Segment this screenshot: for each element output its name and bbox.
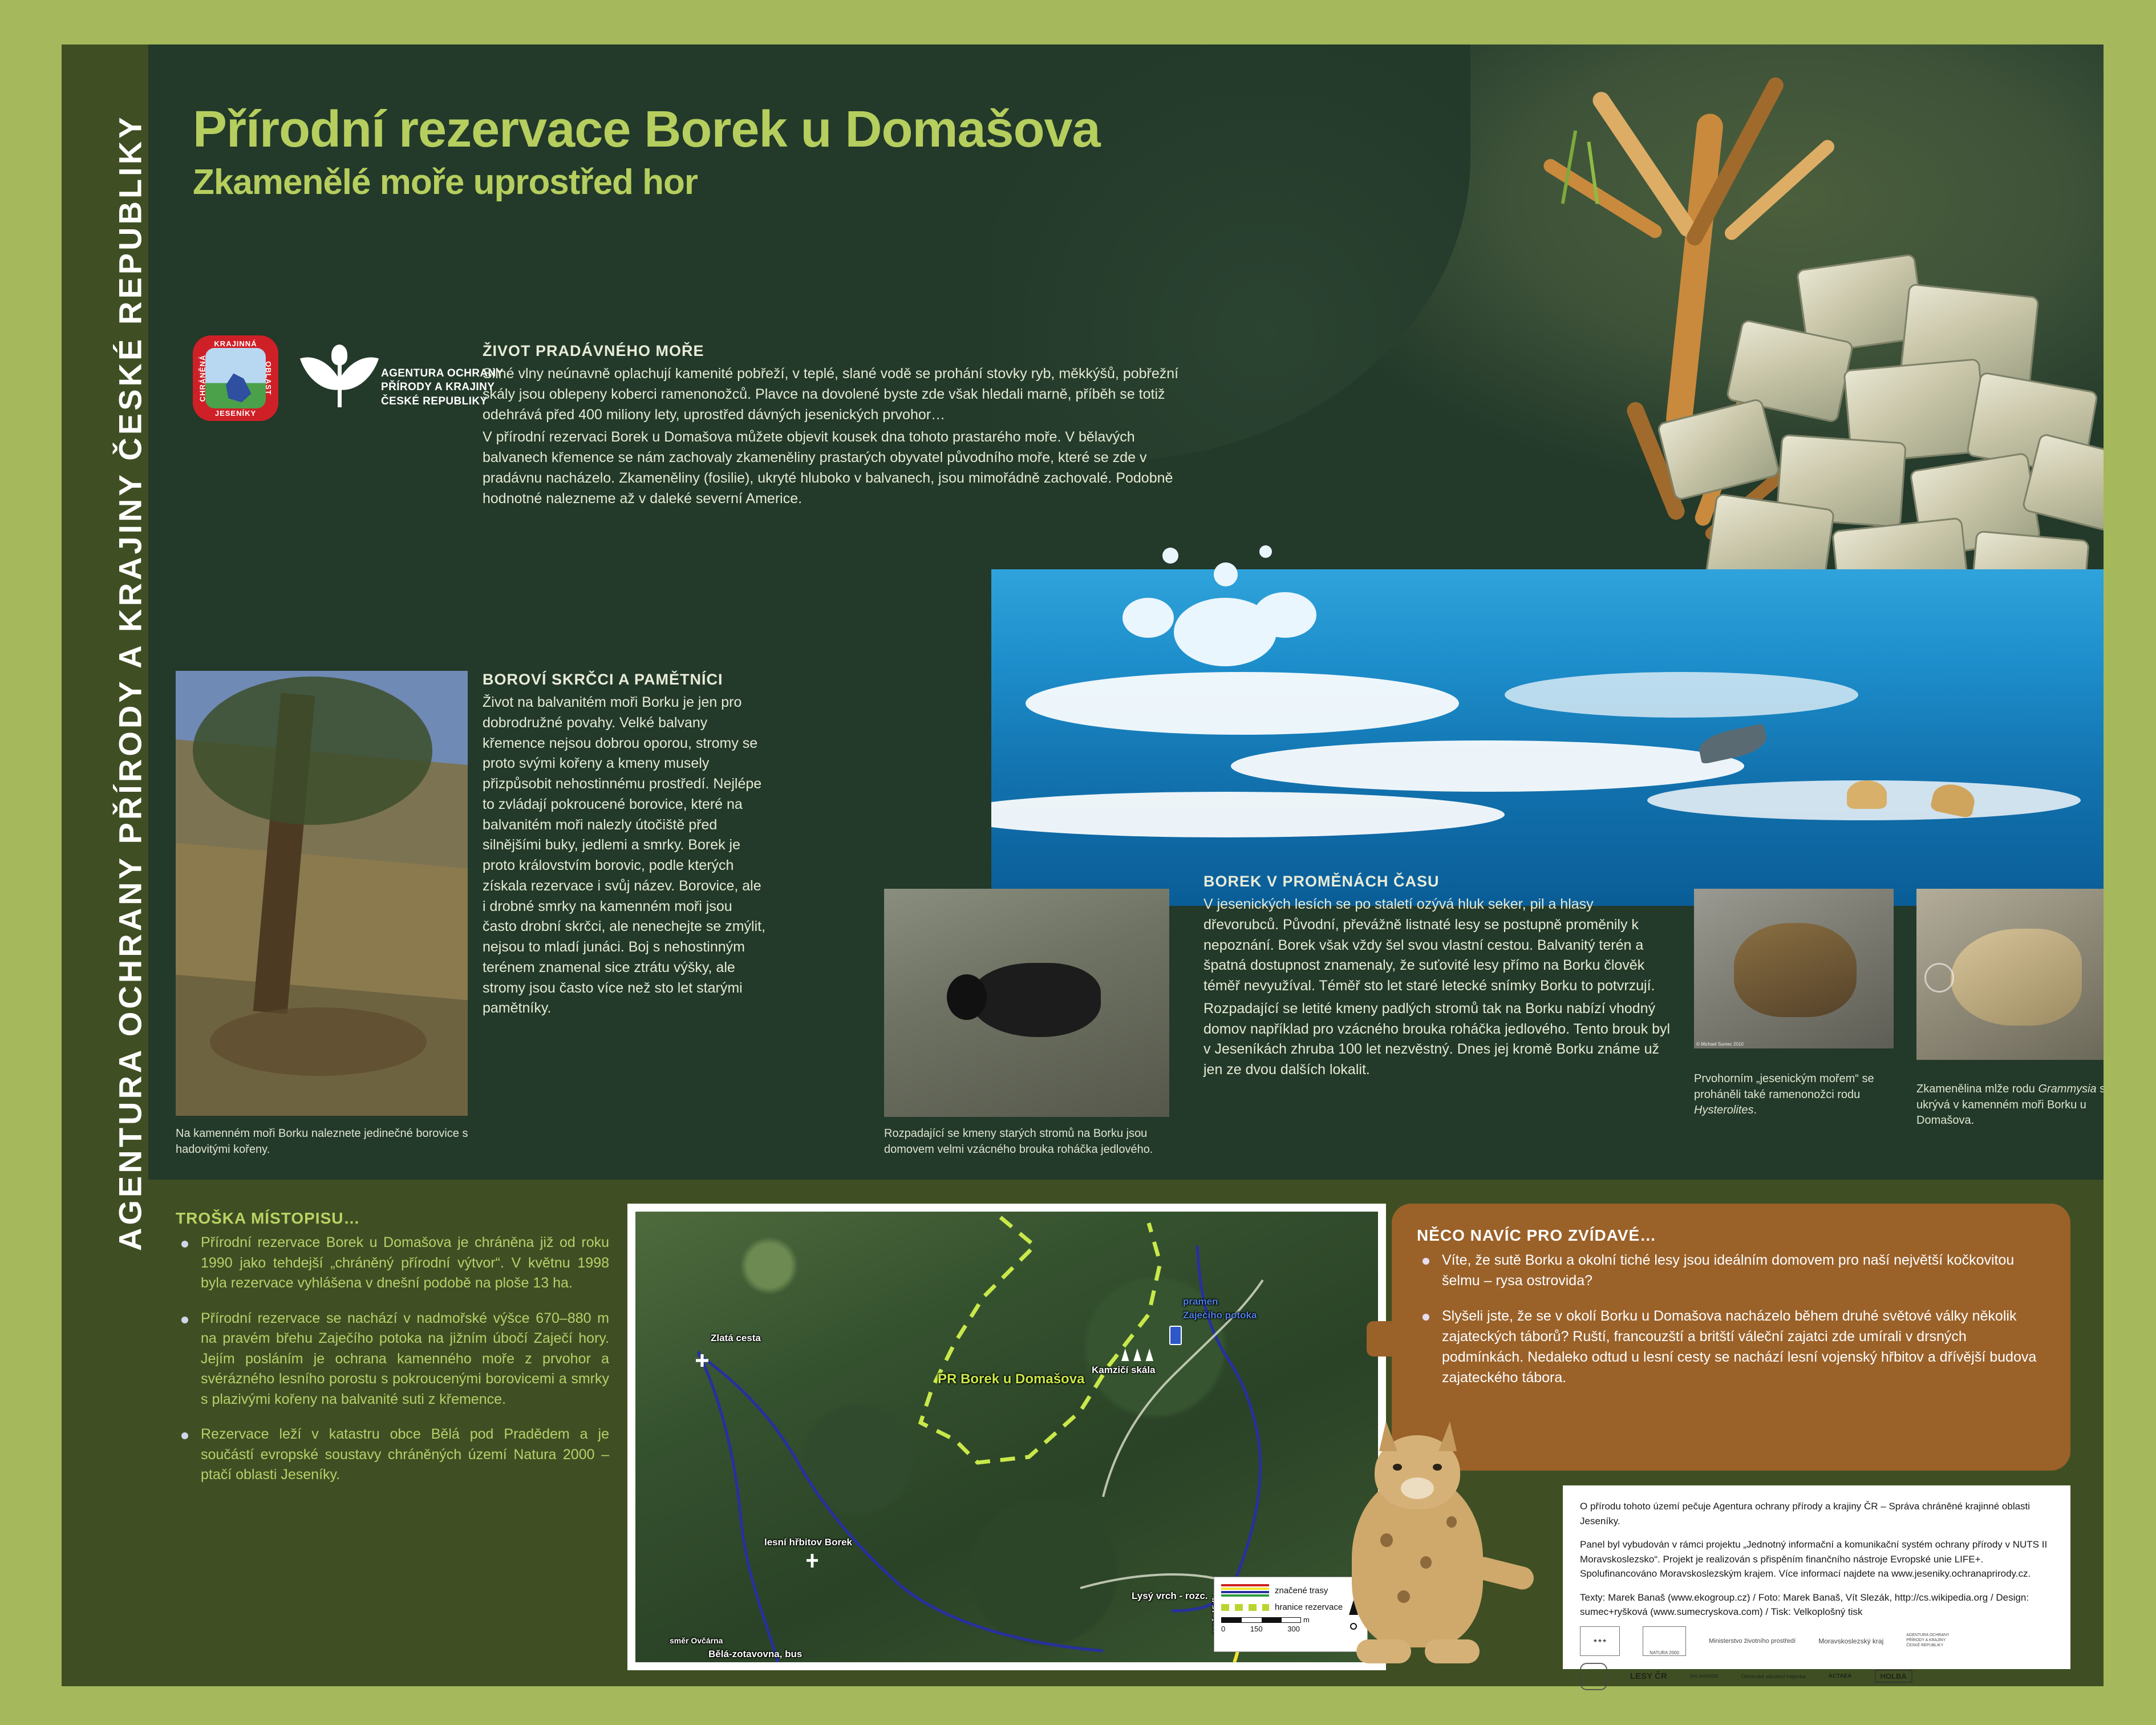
time-paragraph-2: Rozpadající se letité kmeny padlých stro… <box>1203 999 1671 1080</box>
wave-crest <box>1026 672 1459 735</box>
map-label-smer-ovcarna: směr Ovčárna <box>670 1636 723 1645</box>
sea-foam <box>1122 598 1174 638</box>
fossil1-genus: Hysterolites <box>1694 1104 1753 1116</box>
lesy-cr-logo: LESY ČR <box>1630 1671 1667 1681</box>
section-sea-life: ŽIVOT PRADÁVNÉHO MOŘE Silné vlny neúnavn… <box>483 342 1201 509</box>
time-paragraph-1: V jesenických lesích se po staletí ozývá… <box>1203 894 1671 997</box>
page-title: Přírodní rezervace Borek u Domašova Zkam… <box>193 104 1100 203</box>
map-label-lysy-vrch: Lysý vrch - rozc. <box>1132 1590 1208 1602</box>
map-label-spring-2: Zaječího potoka <box>1183 1310 1257 1321</box>
pine-photo-caption: Na kamenném moři Borku naleznete jedineč… <box>176 1126 472 1157</box>
splash-droplet <box>1162 548 1178 564</box>
location-map[interactable]: Zlatá cesta lesní hřbitov Borek PR Borek… <box>627 1204 1386 1670</box>
vertical-spine: AGENTURA OCHRANY PŘÍRODY A KRAJINY ČESKÉ… <box>62 44 148 1686</box>
chko-logo-left-text: CHRÁNĚNÁ <box>198 355 207 402</box>
holba-logo: HOLBA <box>1875 1670 1912 1683</box>
section-pines: BOROVÍ SKRČCI A PAMĚTNÍCI Život na balva… <box>483 671 768 1019</box>
fossil2-genus: Grammysia <box>2038 1083 2096 1095</box>
credits-line-1: O přírodu tohoto území pečuje Agentura o… <box>1580 1499 2053 1528</box>
wave-crest <box>1505 672 1858 718</box>
legend-scale-0: 0 <box>1221 1625 1225 1633</box>
hajenka-logo: Občanské sdružení Hájenka <box>1741 1674 1806 1679</box>
splash-droplet <box>1214 562 1238 586</box>
extra-heading: NĚCO NAVÍC PRO ZVÍDAVÉ… <box>1417 1226 2045 1245</box>
lynx-ear-left <box>1375 1422 1397 1451</box>
legend-scale-mid: 150 <box>1250 1625 1263 1633</box>
lynx-spot <box>1397 1590 1410 1603</box>
agency-vertical-label: AGENTURA OCHRANY PŘÍRODY A KRAJINY ČESKÉ… <box>112 115 149 1598</box>
reserve-boundary <box>921 1217 1160 1463</box>
legend-trail-swatches <box>1221 1583 1269 1598</box>
map-marker-spring <box>1169 1326 1182 1345</box>
trail-blue <box>698 1351 778 1662</box>
map-label-spring-1: pramen <box>1183 1296 1218 1307</box>
aopk-logo: AGENTURA OCHRANY PŘÍRODY A KRAJINY ČESKÉ… <box>306 345 504 412</box>
shell-icon <box>1847 780 1887 809</box>
section-topography: TROŠKA MÍSTOPISU… Přírodní rezervace Bor… <box>176 1209 609 1500</box>
map-label-zlata-cesta: Zlatá cesta <box>711 1333 761 1344</box>
fossil-hysterolites-photo: © Michael Sumec 2010 <box>1694 889 1894 1048</box>
lynx-spot <box>1420 1556 1432 1569</box>
title-line-2: Zkamenělé moře uprostřed hor <box>193 162 1100 203</box>
aopk-small-logo: AGENTURA OCHRANYPŘÍRODY A KRAJINYČESKÉ R… <box>1906 1633 1949 1648</box>
photo-beetle-body <box>970 963 1101 1037</box>
chko-small-logo <box>1580 1663 1607 1690</box>
information-panel: AGENTURA OCHRANY PŘÍRODY A KRAJINY ČESKÉ… <box>0 0 2156 1725</box>
callout-tail <box>1367 1321 1400 1356</box>
list-item: Rezervace leží v katastru obce Bělá pod … <box>176 1424 609 1485</box>
map-label-lesni-hrbitov: lesní hřbitov Borek <box>764 1537 852 1548</box>
moravskoslezsky-kraj-logo: Moravskoslezský kraj <box>1818 1637 1883 1645</box>
lower-green-section: TROŠKA MÍSTOPISU… Přírodní rezervace Bor… <box>148 1180 2104 1686</box>
lynx-paw <box>1356 1639 1411 1663</box>
chko-jeseniky-logo: KRAJINNÁ JESENÍKY CHRÁNĚNÁ OBLAST <box>193 335 278 421</box>
list-item: Přírodní rezervace Borek u Domašova je c… <box>176 1233 609 1294</box>
sea-foam <box>1254 592 1316 638</box>
splash-droplet <box>1259 545 1272 558</box>
lynx-eye-left <box>1393 1464 1402 1471</box>
time-heading: BOREK V PROMĚNÁCH ČASU <box>1203 873 1671 890</box>
map-label-reserve: PR Borek u Domašova <box>938 1371 1084 1387</box>
section-time: BOREK V PROMĚNÁCH ČASU V jesenických les… <box>1203 873 1671 1080</box>
lynx-paw <box>1425 1639 1480 1663</box>
ministry-environment-logo: Ministerstvo životního prostředí <box>1709 1638 1796 1645</box>
lynx-muzzle <box>1401 1477 1434 1499</box>
beetle-photo <box>884 889 1169 1117</box>
topography-bullet-list: Přírodní rezervace Borek u Domašova je c… <box>176 1233 609 1485</box>
sponsor-logo-row-2: LESY ČR SALAMANDR Občanské sdružení Háje… <box>1580 1663 2053 1690</box>
sea-life-heading: ŽIVOT PRADÁVNÉHO MOŘE <box>483 342 1201 360</box>
photo-watermark-icon <box>1924 963 1954 993</box>
lynx-eye-right <box>1433 1464 1442 1471</box>
sponsor-logo-row-1: ★★★ NATURA 2000 Ministerstvo životního p… <box>1580 1626 2053 1656</box>
lynx-spot <box>1446 1516 1457 1528</box>
extra-bullet-list: Víte, že sutě Borku a okolní tiché lesy … <box>1417 1250 2045 1388</box>
photo-pine-canopy <box>193 677 432 825</box>
list-item: Víte, že sutě Borku a okolní tiché lesy … <box>1417 1250 2045 1291</box>
fossil-grammysia-photo <box>1916 889 2104 1060</box>
natura2000-logo: NATURA 2000 <box>1643 1626 1686 1656</box>
chko-logo-top-text: KRAJINNÁ <box>214 339 257 348</box>
lynx-ear-right <box>1438 1422 1461 1451</box>
chko-logo-inner <box>205 348 266 408</box>
title-line-1: Přírodní rezervace Borek u Domašova <box>193 104 1100 156</box>
sea-life-paragraph-1: Silné vlny neúnavně oplachují kamenité p… <box>483 364 1201 425</box>
salamandr-logo: SALAMANDR <box>1690 1674 1719 1679</box>
topography-heading: TROŠKA MÍSTOPISU… <box>176 1209 609 1228</box>
list-item: Přírodní rezervace se nachází v nadmořsk… <box>176 1309 609 1410</box>
aopk-leaf-icon <box>306 345 373 412</box>
pines-heading: BOROVÍ SKRČCI A PAMĚTNÍCI <box>483 671 768 689</box>
map-aerial-image: Zlatá cesta lesní hřbitov Borek PR Borek… <box>635 1212 1378 1662</box>
fossil2-caption: Zkamenělina mlže rodu Grammysia se ukrýv… <box>1916 1082 2104 1129</box>
chko-logo-mountain <box>226 374 252 403</box>
wave-crest <box>1231 740 1744 792</box>
map-label-kamzici-skala: Kamzičí skála <box>1092 1364 1156 1376</box>
leaf-bud <box>331 345 347 365</box>
pines-paragraph: Život na balvanitém moři Borku je jen pr… <box>483 693 768 1019</box>
fossil-photo-credit: © Michael Sumec 2010 <box>1696 1042 1744 1047</box>
map-label-bela-bus: Bělá-zotavovna, bus <box>708 1649 802 1660</box>
lynx-spot <box>1380 1533 1393 1547</box>
photo-brachiopod-shell <box>1734 923 1857 1017</box>
sea-life-paragraph-2: V přírodní rezervaci Borek u Domašova mů… <box>483 427 1201 509</box>
legend-boundary-swatch <box>1221 1604 1269 1611</box>
credits-line-2: Panel byl vybudován v rámci projektu „Je… <box>1580 1537 2053 1581</box>
logo-group: KRAJINNÁ JESENÍKY CHRÁNĚNÁ OBLAST AGENTU… <box>193 335 504 421</box>
actaea-logo: ACTAEA <box>1829 1673 1852 1679</box>
fossil1-caption: Prvohorním „jesenickým mořem“ se proháně… <box>1694 1071 1882 1119</box>
photo-pine-roots <box>210 1007 427 1076</box>
upper-dark-section: Přírodní rezervace Borek u Domašova Zkam… <box>148 44 2104 1180</box>
chko-logo-right-text: OBLAST <box>264 361 273 395</box>
credits-line-3: Texty: Marek Banaš (www.ekogroup.cz) / F… <box>1580 1590 2053 1619</box>
pine-tree-photo <box>176 671 468 1116</box>
beetle-photo-caption: Rozpadající se kmeny starých stromů na B… <box>884 1126 1186 1157</box>
life-logo: ★★★ <box>1580 1626 1620 1656</box>
photo-bivalve-shell <box>1951 929 2082 1026</box>
lynx-illustration <box>1289 1374 1551 1663</box>
credits-card: O přírodu tohoto území pečuje Agentura o… <box>1563 1485 2070 1669</box>
chko-logo-bottom-text: JESENÍKY <box>215 409 256 418</box>
photo-beetle-head <box>947 974 987 1020</box>
